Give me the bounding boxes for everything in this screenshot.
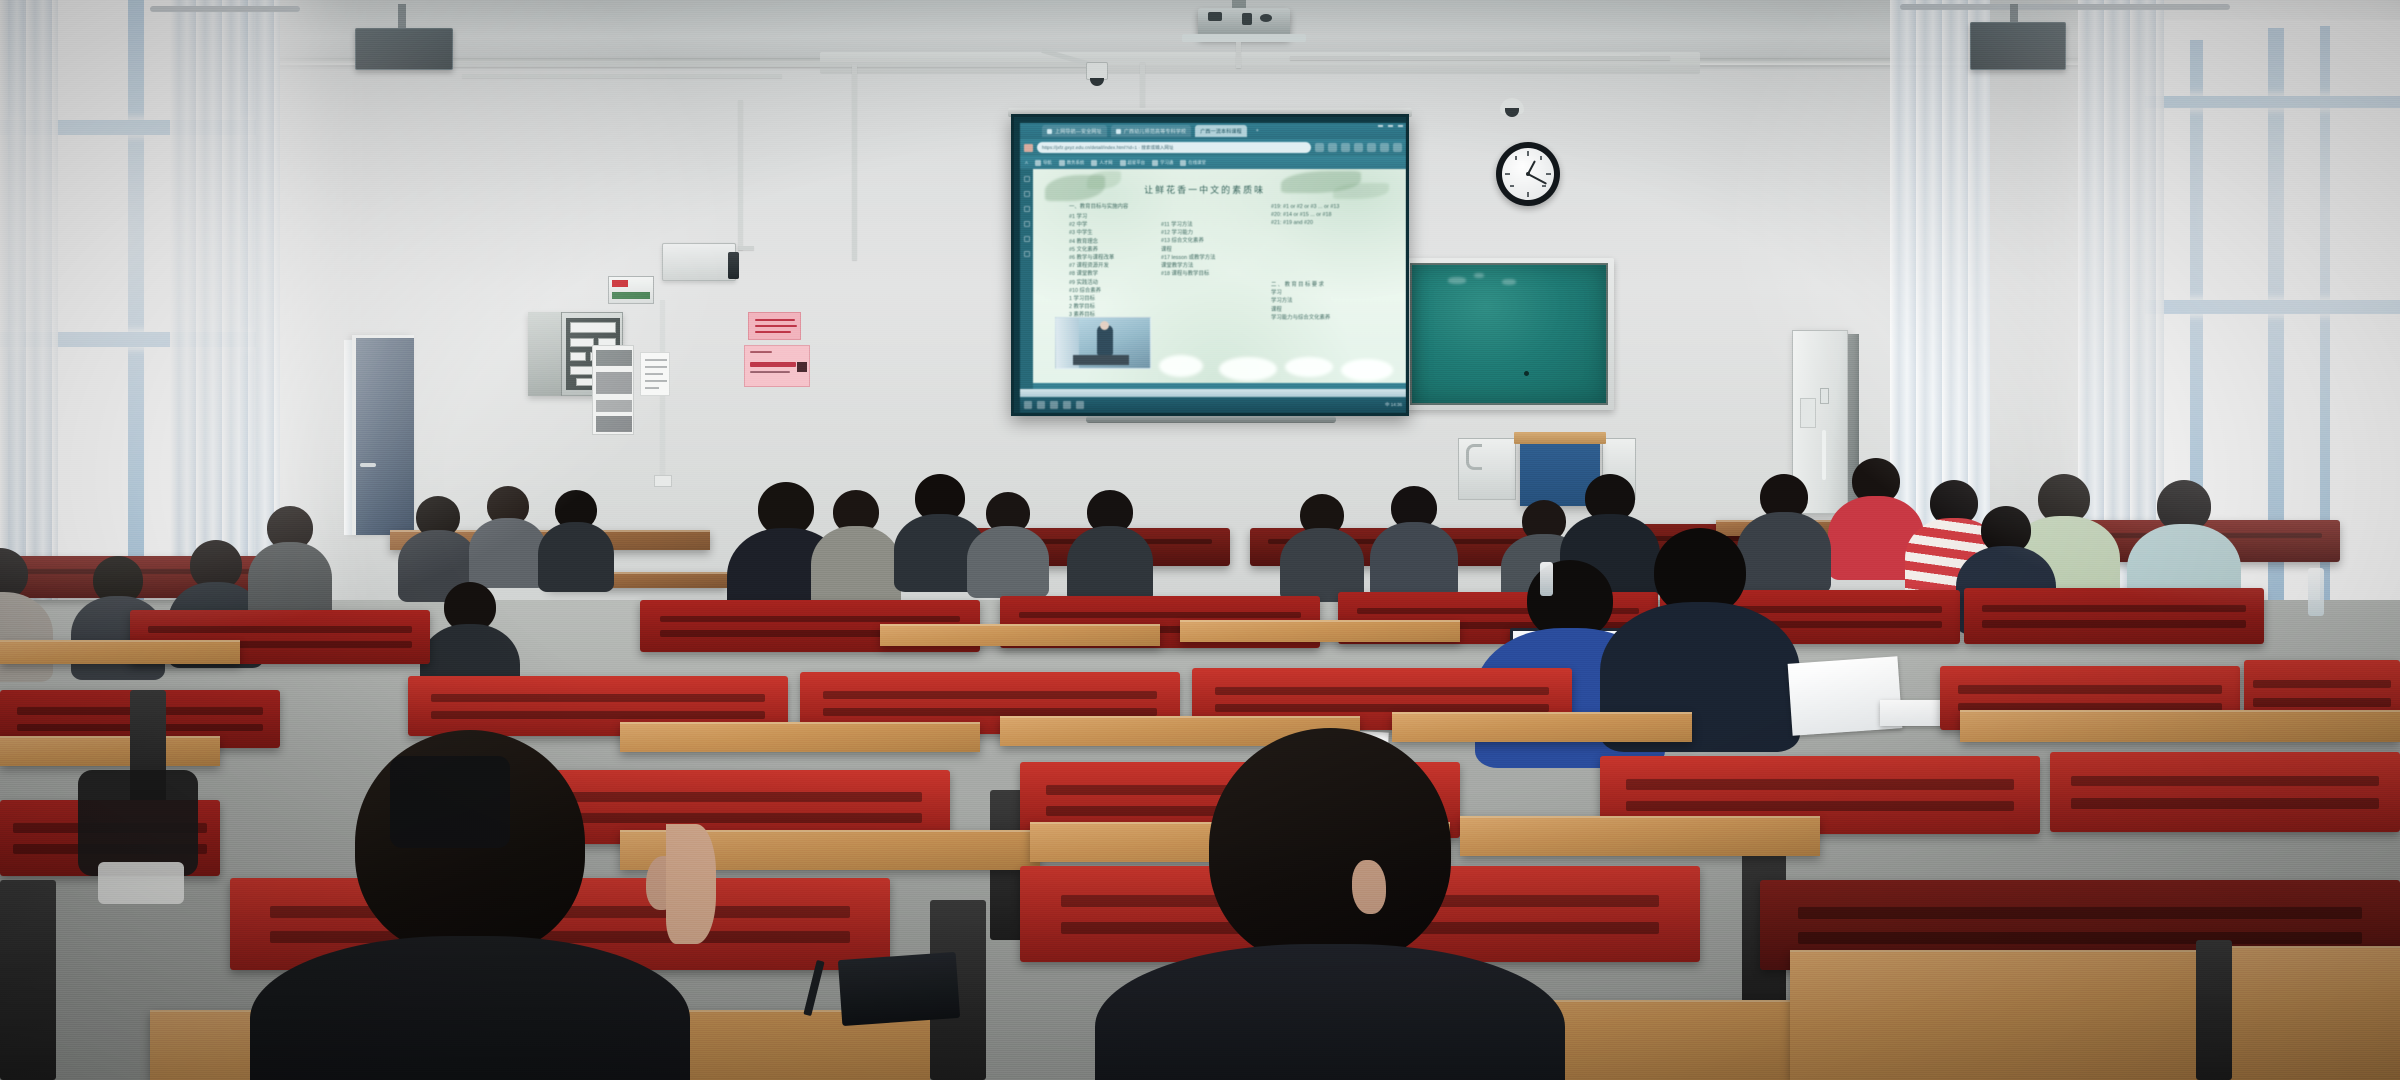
page-icon (1180, 160, 1186, 166)
media-icon[interactable] (1076, 401, 1084, 409)
bookmark-item-3[interactable]: 超星平台 (1120, 160, 1146, 166)
bookmark-item-4[interactable]: 学习通 (1152, 160, 1173, 166)
history-icon[interactable] (1024, 206, 1030, 212)
shield-icon (1047, 129, 1052, 134)
menu-icon[interactable] (1393, 143, 1402, 152)
conduit-elbow (738, 246, 754, 250)
slide-right-section: 二、教育目标要求 学习 学习方法 课程 学习能力与综合文化素养 (1271, 281, 1330, 322)
ear (1352, 860, 1386, 914)
electrical-panel-door[interactable] (528, 312, 562, 396)
settings-icon[interactable] (1024, 251, 1030, 257)
bench-row2-far-right[interactable] (1964, 588, 2264, 644)
slide-left-heading: 一、教育目标与实施内容 (1069, 203, 1128, 211)
wall-conduit-vertical-1 (852, 64, 857, 260)
clock-face (1502, 148, 1554, 200)
utility-box (662, 243, 736, 281)
wall-conduit-vertical-3 (738, 100, 743, 250)
projection-screen-bottom-bar (1086, 416, 1336, 423)
water-bottle[interactable] (2308, 568, 2324, 616)
taskbar-clock: 中 14:36 (1385, 402, 1402, 408)
translate-icon[interactable] (1315, 143, 1324, 152)
curtain-rod-left (150, 6, 300, 12)
browser-status-bar (1020, 389, 1406, 397)
download-icon[interactable] (1024, 236, 1030, 242)
wall-notice-pink-top (748, 312, 801, 340)
desk-foreground-far-right[interactable] (2215, 946, 2400, 1080)
slide-right-items: #19: #1 or #2 or #3 ... or #13 #20: #14 … (1271, 203, 1339, 228)
start-icon[interactable] (1024, 401, 1032, 409)
slide-content: 让鲜花香一中文的素质味 一、教育目标与实施内容 #1 学习 #2 中学 #3 中… (1033, 169, 1406, 383)
shield-icon (1091, 160, 1097, 166)
folder-icon[interactable] (1037, 401, 1045, 409)
close-icon[interactable] (1398, 125, 1403, 127)
home-icon[interactable] (1024, 176, 1030, 182)
green-chalkboard (1410, 263, 1608, 405)
browser-icon[interactable] (1050, 401, 1058, 409)
desk-row2-a[interactable] (880, 624, 1160, 646)
cabinet-lock-icon[interactable] (1820, 388, 1829, 404)
podium-hook (1466, 444, 1482, 470)
speaker-right-bracket (2010, 4, 2018, 24)
desk-row3-a[interactable] (620, 722, 980, 752)
bench-row4-far-right[interactable] (2050, 752, 2400, 832)
shield-icon (1120, 160, 1126, 166)
wall-socket (654, 475, 672, 487)
curtain-rod-right (1900, 4, 2230, 10)
bookmark-item-5[interactable]: 在线课堂 (1180, 160, 1206, 166)
browser-tab-1[interactable]: 上网导航—安全网址 (1042, 125, 1107, 137)
classroom-photo: 上网导航—安全网址 广西幼儿师范高等专科学校 广西一流本科课程 + (0, 0, 2400, 1080)
minimize-icon[interactable] (1378, 125, 1383, 127)
utility-device (728, 252, 739, 279)
desk-foreground-right[interactable] (1790, 950, 2220, 1080)
shield-icon (1059, 160, 1065, 166)
bookmark-A-label: A (1025, 160, 1028, 165)
projector-cable (1236, 42, 1241, 68)
os-taskbar[interactable]: 中 14:36 (1020, 397, 1406, 413)
download-icon[interactable] (1354, 143, 1363, 152)
door-light-gap (344, 340, 352, 535)
slide-left-items: #1 学习 #2 中学 #3 中学生 #4 教育理念 #5 文化素养 #6 教学… (1069, 213, 1114, 320)
bench-end-foreground-right (2196, 940, 2232, 1080)
ceiling-conduit-1 (430, 62, 1090, 67)
wall-notice-small (640, 352, 670, 396)
bookmark-icon[interactable] (1024, 191, 1030, 197)
cheek (666, 824, 716, 944)
window-right-mullion-h1 (2145, 300, 2400, 314)
desk-row2-b[interactable] (1180, 620, 1460, 642)
browser-window[interactable]: 上网导航—安全网址 广西幼儿师范高等专科学校 广西一流本科课程 + (1020, 123, 1406, 413)
desk-row2-left[interactable] (0, 640, 240, 664)
print-icon[interactable] (1367, 143, 1376, 152)
bag-on-floor-2 (390, 756, 510, 848)
water-bottle-2[interactable] (1540, 562, 1553, 596)
wall-notice-schedule (592, 345, 634, 435)
speaker-right (1970, 22, 2066, 70)
maximize-icon[interactable] (1388, 125, 1393, 127)
window-left-mullion-v2 (128, 0, 144, 600)
bookmark-item-1[interactable]: 教务系统 (1059, 160, 1085, 166)
bag-on-floor (78, 770, 198, 876)
site-favicon-icon (1024, 144, 1033, 152)
favorite-icon[interactable] (1341, 143, 1350, 152)
wall-conduit-horizontal (462, 74, 782, 78)
speaker-left-bracket (398, 4, 406, 30)
lectern-top (1514, 432, 1606, 444)
screenshot-icon[interactable] (1328, 143, 1337, 152)
desk-row3-c[interactable] (1392, 712, 1692, 742)
bookmarks-bar[interactable]: A 导航 教务系统 人才网 超星平台 学习通 在线课堂 (1020, 156, 1406, 169)
browser-sidebar[interactable] (1020, 169, 1033, 397)
slide-middle-items: #11 学习方法 #12 学习能力 #13 综合文化素养 课程 #17 less… (1161, 221, 1216, 278)
desk-row4-c[interactable] (1460, 816, 1820, 856)
wall-conduit-vertical-2 (1140, 62, 1145, 110)
page-icon (1116, 129, 1121, 134)
desk-row3-left[interactable] (0, 736, 220, 766)
url-input[interactable]: https://jxfz.gxyz.edu.cn/detail/index.ht… (1037, 142, 1311, 153)
speaker-left (355, 28, 453, 70)
browser-tab-strip[interactable]: 上网导航—安全网址 广西幼儿师范高等专科学校 广西一流本科课程 + (1020, 123, 1406, 139)
curtain-left-inner (0, 0, 58, 600)
desk-row3-right[interactable] (1960, 710, 2400, 742)
window-controls[interactable] (1378, 125, 1403, 127)
door-handle[interactable] (360, 463, 376, 467)
curtain-left-outer (170, 0, 280, 600)
bookmark-item-2[interactable]: 人才网 (1091, 160, 1112, 166)
browser-tab-3-active[interactable]: 广西一流本科课程 (1195, 125, 1247, 137)
smartphone[interactable] (838, 952, 960, 1026)
bookmark-item-0[interactable]: 导航 (1035, 160, 1052, 166)
chat-icon[interactable] (1063, 401, 1071, 409)
browser-address-bar[interactable]: https://jxfz.gxyz.edu.cn/detail/index.ht… (1020, 139, 1406, 156)
ceiling-conduit-2 (1290, 56, 1670, 60)
grid-icon (1152, 160, 1158, 166)
window-right-mullion-v3 (2320, 26, 2330, 606)
curtain-right-inner (2078, 0, 2164, 600)
slide-title: 让鲜花香一中文的素质味 (1144, 183, 1265, 196)
search-icon[interactable] (1024, 221, 1030, 227)
shoes (98, 862, 184, 904)
fire-alarm-indicator (612, 280, 628, 287)
user-icon[interactable] (1380, 143, 1389, 152)
browser-tab-2[interactable]: 广西幼儿师范高等专科学校 (1111, 125, 1191, 137)
window-right-mullion-h2 (2145, 96, 2400, 108)
lecture-video-thumbnail[interactable] (1055, 317, 1151, 369)
projection-screen: 上网导航—安全网址 广西幼儿师范高等专科学校 广西一流本科课程 + (1011, 114, 1409, 416)
new-tab-button[interactable]: + (1251, 125, 1264, 137)
cabinet-panel (1800, 398, 1816, 428)
curtain-right-far (1890, 0, 1990, 560)
cabinet-handle[interactable] (1822, 430, 1826, 480)
fire-alarm-strip (612, 292, 650, 299)
wall-notice-pink-bottom (744, 345, 810, 387)
projector-mount-plate (1182, 34, 1306, 42)
bench-end-foreground-left (0, 880, 56, 1080)
folder-icon (1035, 160, 1041, 166)
classroom-door[interactable] (352, 335, 414, 535)
